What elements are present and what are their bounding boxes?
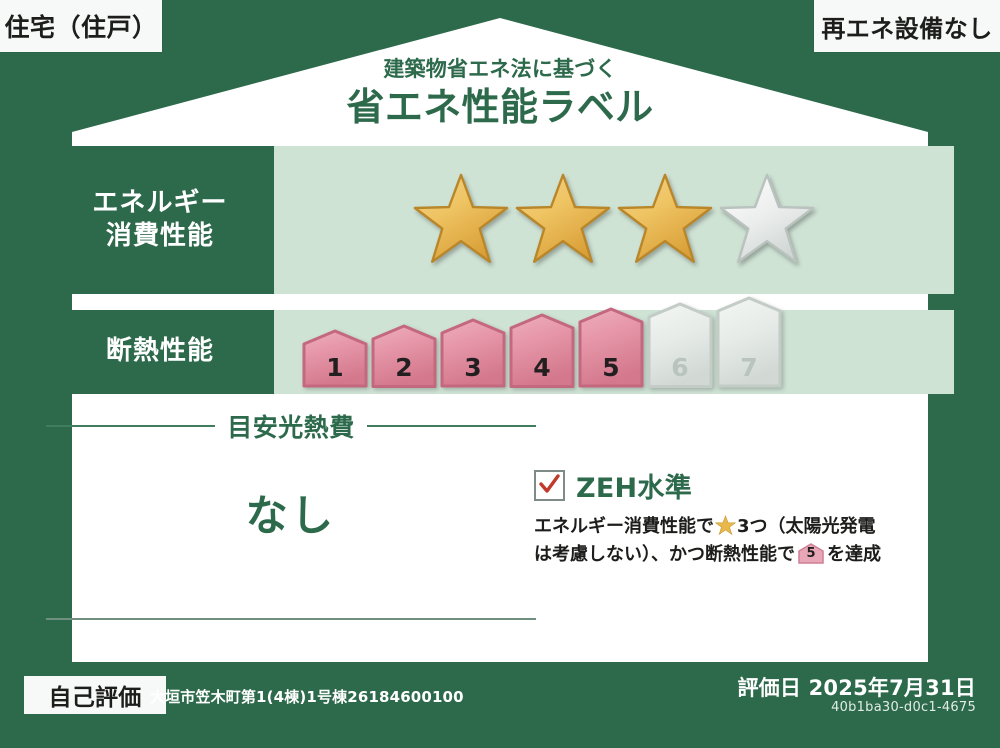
- energy-performance-row: エネルギー 消費性能: [46, 146, 954, 294]
- zeh-description: エネルギー消費性能で 3つ（太陽光発電 は考慮しない）、かつ断熱性能で 5を達成: [534, 513, 952, 569]
- insulation-grade-4: 4: [509, 313, 575, 389]
- utility-cost-underline: [46, 618, 536, 620]
- insulation-grade-value: 5: [578, 353, 644, 382]
- insulation-grade-value: 7: [716, 353, 782, 382]
- energy-label-line-2: 消費性能: [106, 220, 214, 253]
- evaluation-date-label: 評価日: [737, 676, 801, 700]
- insulation-grade-3: 3: [440, 318, 506, 388]
- footer-document-id: 40b1ba30-d0c1-4675: [831, 700, 976, 715]
- insulation-performance-label: 断熱性能: [46, 310, 274, 394]
- zeh-desc-part-2: は考慮しない）、かつ断熱性能で: [534, 544, 795, 565]
- inline-grade-value: 5: [798, 544, 824, 564]
- insulation-label-text: 断熱性能: [106, 335, 214, 368]
- star-empty-icon: [719, 172, 815, 268]
- zeh-desc-part-3: を達成: [827, 544, 881, 565]
- insulation-grade-2: 2: [371, 324, 437, 389]
- insulation-performance-row: 断熱性能 1234567: [46, 310, 954, 394]
- insulation-grade-1: 1: [302, 329, 368, 388]
- star-rating: [274, 146, 954, 294]
- insulation-grade-5: 5: [578, 307, 644, 388]
- insulation-grade-value: 4: [509, 353, 575, 382]
- insulation-grade-7: 7: [716, 296, 782, 388]
- footer-evaluation-date: 評価日 2025年7月31日: [737, 672, 976, 702]
- energy-performance-label: エネルギー 消費性能: [46, 146, 274, 294]
- title-subtitle: 建築物省エネ法に基づく: [0, 58, 1000, 81]
- zeh-desc-part-1: エネルギー消費性能で: [534, 516, 714, 537]
- label-title-block: 建築物省エネ法に基づく 省エネ性能ラベル: [0, 58, 1000, 131]
- star-filled-icon: [617, 172, 713, 268]
- zeh-title: ZEH水準: [576, 466, 692, 505]
- badge-renewable-equipment: 再エネ設備なし: [814, 0, 1000, 52]
- insulation-grade-6: 6: [647, 302, 713, 389]
- inline-grade-badge: 5: [798, 543, 824, 564]
- insulation-grade-value: 6: [647, 353, 713, 382]
- star-filled-icon: [515, 172, 611, 268]
- badge-self-evaluation: 自己評価: [24, 676, 166, 714]
- utility-cost-value: なし: [46, 482, 536, 543]
- grade-list: 1234567: [302, 296, 782, 388]
- label-footer: 自己評価 大垣市笠木町第1(4棟)1号棟26184600100 評価日 2025…: [0, 662, 1000, 748]
- star-filled-icon: [413, 172, 509, 268]
- zeh-standard-block: ZEH水準 エネルギー消費性能で 3つ（太陽光発電 は考慮しない）、かつ断熱性能…: [534, 466, 952, 569]
- footer-address: 大垣市笠木町第1(4棟)1号棟26184600100: [150, 686, 464, 707]
- zeh-checkbox: [534, 470, 565, 501]
- zeh-title-row: ZEH水準: [534, 466, 952, 505]
- utility-cost-heading-text: 目安光熱費: [227, 408, 355, 444]
- insulation-grade-value: 2: [371, 353, 437, 382]
- page-title: 省エネ性能ラベル: [0, 85, 1000, 131]
- badge-house-type: 住宅（住戸）: [0, 0, 162, 52]
- heading-rule-right: [367, 425, 536, 427]
- insulation-grade-scale: 1234567: [274, 310, 954, 394]
- evaluation-date-value: 2025年7月31日: [809, 676, 976, 700]
- utility-cost-heading: 目安光熱費: [46, 408, 536, 444]
- inline-star-icon: [715, 515, 736, 536]
- energy-label-line-1: エネルギー: [92, 187, 227, 220]
- heading-rule-left: [46, 425, 215, 427]
- insulation-grade-value: 3: [440, 353, 506, 382]
- insulation-grade-value: 1: [302, 353, 368, 382]
- zeh-desc-star-count: 3つ（太陽光発電: [737, 516, 876, 537]
- energy-performance-label: 住宅（住戸） 再エネ設備なし 建築物省エネ法に基づく 省エネ性能ラベル エネルギ…: [0, 0, 1000, 748]
